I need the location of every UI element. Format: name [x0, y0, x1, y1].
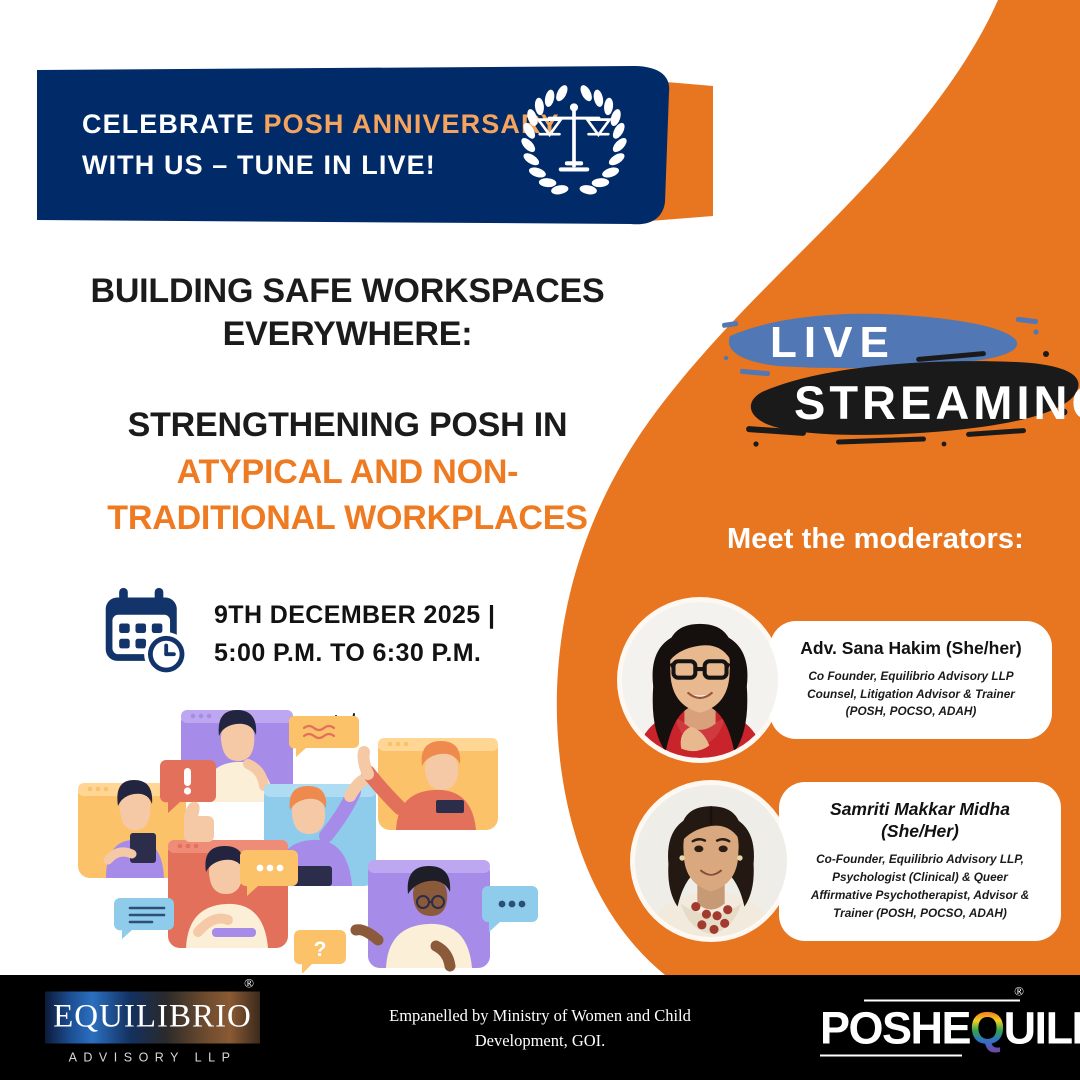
headline-top-line-2: EVERYWHERE: — [40, 313, 655, 356]
headline-bottom-line-3: TRADITIONAL WORKPLACES — [40, 495, 655, 542]
moderator-role-2: Co-Founder, Equilibrio Advisory LLP, Psy… — [799, 851, 1041, 923]
empanelment-line-1: Empanelled by Ministry of Women and Chil… — [330, 1002, 750, 1027]
moderator-photo-sana-hakim — [622, 602, 778, 758]
poshequili-part-2: UILI — [1004, 1002, 1080, 1053]
moderator-role-2-line-2: Psychologist (Clinical) & Queer — [799, 869, 1041, 887]
banner-text-block: CELEBRATE POSH ANNIVERSARY WITH US – TUN… — [82, 104, 582, 185]
poshequili-registered-mark: ® — [1014, 983, 1024, 999]
event-time: 5:00 P.M. TO 6:30 P.M. — [214, 634, 495, 672]
moderators-heading: Meet the moderators: — [727, 523, 1024, 556]
svg-text:?: ? — [314, 938, 327, 961]
equilibrio-logo-bar: EQUILIBRIO — [45, 991, 260, 1043]
poshequili-part-1: POSHE — [820, 1002, 970, 1053]
live-word: LIVE — [770, 318, 896, 368]
headline-bottom-line-1: STRENGTHENING POSH IN — [40, 402, 655, 449]
headline-bottom: STRENGTHENING POSH IN ATYPICAL AND NON- … — [40, 402, 655, 543]
equilibrio-logo: ® EQUILIBRIO ADVISORY LLP — [45, 991, 260, 1064]
scales-of-justice-laurel-icon — [513, 82, 635, 204]
headline-top-line-1: BUILDING SAFE WORKSPACES — [40, 270, 655, 313]
footer-bar: ® EQUILIBRIO ADVISORY LLP Empanelled by … — [0, 975, 1080, 1080]
live-streaming-badge: LIVE STREAMING — [716, 296, 1080, 456]
empanelment-line-2: Development, GOI. — [330, 1028, 750, 1053]
poshequili-rule-bottom — [820, 1054, 962, 1056]
event-datetime: 9TH DECEMBER 2025 | 5:00 P.M. TO 6:30 P.… — [98, 586, 495, 682]
headline-bottom-line-2: ATYPICAL AND NON- — [40, 449, 655, 496]
moderator-card-1: Adv. Sana Hakim (She/her) Co Founder, Eq… — [770, 621, 1052, 740]
event-datetime-text: 9TH DECEMBER 2025 | 5:00 P.M. TO 6:30 P.… — [214, 596, 495, 672]
moderator-role-1-line-1: Co Founder, Equilibrio Advisory LLP — [790, 668, 1032, 686]
equilibrio-registered-mark: ® — [244, 975, 254, 991]
moderator-role-1: Co Founder, Equilibrio Advisory LLP Coun… — [790, 668, 1032, 722]
streaming-word: STREAMING — [794, 375, 1080, 430]
poshequili-wordmark: POSHEQUILI — [820, 1005, 1020, 1050]
moderator-photo-samriti-makkar-midha — [635, 785, 787, 937]
poshequili-logo: ® POSHEQUILI — [820, 999, 1020, 1056]
equilibrio-wordmark: EQUILIBRIO — [53, 1001, 252, 1034]
moderator-role-2-line-1: Co-Founder, Equilibrio Advisory LLP, — [799, 851, 1041, 869]
event-date: 9TH DECEMBER 2025 | — [214, 596, 495, 634]
moderator-name-1: Adv. Sana Hakim (She/her) — [790, 637, 1032, 659]
moderator-item-1: Adv. Sana Hakim (She/her) Co Founder, Eq… — [622, 602, 1052, 758]
equilibrio-subtitle: ADVISORY LLP — [45, 1050, 260, 1064]
moderator-name-2-line-2: (She/Her) — [799, 820, 1041, 842]
moderator-item-2: Samriti Makkar Midha (She/Her) Co-Founde… — [635, 782, 1061, 941]
headline-top: BUILDING SAFE WORKSPACES EVERYWHERE: — [40, 270, 655, 356]
empanelment-note: Empanelled by Ministry of Women and Chil… — [330, 1002, 750, 1052]
moderator-role-2-line-4: Trainer (POSH, POCSO, ADAH) — [799, 905, 1041, 923]
moderator-role-1-line-2: Counsel, Litigation Advisor & Trainer — [790, 686, 1032, 704]
poster-canvas: CELEBRATE POSH ANNIVERSARY WITH US – TUN… — [0, 0, 1080, 1080]
poshequili-rule-top — [864, 999, 1020, 1001]
moderator-name-2: Samriti Makkar Midha (She/Her) — [799, 798, 1041, 842]
moderator-role-1-line-3: (POSH, POCSO, ADAH) — [790, 703, 1032, 721]
page-title: BUILDING SAFE WORKSPACES EVERYWHERE: STR… — [40, 270, 655, 542]
poshequili-rainbow-q: Q — [970, 1002, 1004, 1053]
moderator-card-2: Samriti Makkar Midha (She/Her) Co-Founde… — [779, 782, 1061, 941]
calendar-clock-icon — [98, 586, 196, 682]
announcement-banner: CELEBRATE POSH ANNIVERSARY WITH US – TUN… — [37, 66, 713, 226]
banner-line-1-white: CELEBRATE — [82, 109, 264, 139]
banner-line-1: CELEBRATE POSH ANNIVERSARY — [82, 104, 582, 145]
video-call-collage-illustration: ? — [78, 688, 548, 973]
banner-line-2: WITH US – TUNE IN LIVE! — [82, 145, 582, 186]
moderator-name-2-line-1: Samriti Makkar Midha — [799, 798, 1041, 820]
moderator-role-2-line-3: Affirmative Psychotherapist, Advisor & — [799, 887, 1041, 905]
